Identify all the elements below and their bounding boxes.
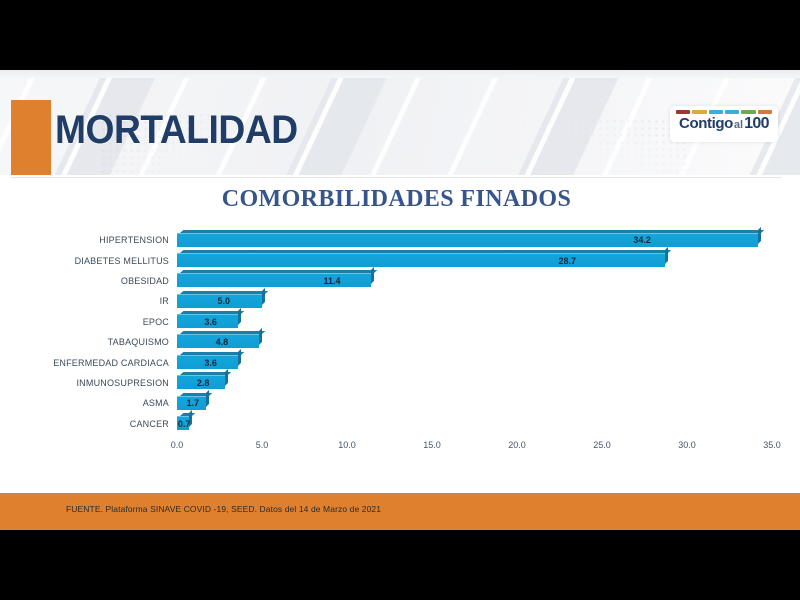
bar-row: ENFERMEDAD CARDIACA3.6 bbox=[11, 352, 782, 372]
bar-value-label: 3.6 bbox=[204, 358, 217, 368]
category-label: IR bbox=[160, 296, 169, 306]
slide-top-strip bbox=[0, 70, 800, 78]
logo-word-100: 100 bbox=[744, 116, 769, 132]
bar-track: 4.8 bbox=[177, 332, 772, 352]
bar-value-label: 0.7 bbox=[178, 419, 191, 429]
x-axis-tick-label: 5.0 bbox=[256, 440, 269, 450]
bar-track: 5.0 bbox=[177, 291, 772, 311]
bar-row: ASMA1.7 bbox=[11, 393, 782, 413]
bar-value-label: 3.6 bbox=[204, 317, 217, 327]
bar-value-label: 5.0 bbox=[217, 296, 230, 306]
category-label: ENFERMEDAD CARDIACA bbox=[53, 358, 169, 368]
bar-track: 3.6 bbox=[177, 312, 772, 332]
bar-row: TABAQUISMO4.8 bbox=[11, 332, 782, 352]
category-label: INMUNOSUPRESION bbox=[76, 378, 169, 388]
category-label: ASMA bbox=[143, 398, 169, 408]
x-axis: 0.05.010.015.020.025.030.035.0 bbox=[177, 440, 772, 458]
bar-value-label: 2.8 bbox=[197, 378, 210, 388]
logo-bar-6 bbox=[758, 110, 772, 114]
bar-row: INMUNOSUPRESION2.8 bbox=[11, 373, 782, 393]
x-axis-tick-label: 25.0 bbox=[593, 440, 611, 450]
bar-track: 2.8 bbox=[177, 373, 772, 393]
bar-row: IR5.0 bbox=[11, 291, 782, 311]
bar-value-label: 1.7 bbox=[187, 398, 200, 408]
logo-word-al: al bbox=[734, 120, 743, 131]
logo-word-contigo: Contigo bbox=[679, 116, 733, 131]
bar[interactable] bbox=[177, 233, 758, 247]
bar-value-label: 28.7 bbox=[559, 256, 577, 266]
screenshot-stage: MORTALIDAD Contigo al 100 COMOR bbox=[0, 0, 800, 600]
bar-track: 34.2 bbox=[177, 230, 772, 250]
header-dot-pattern-decoration-right bbox=[520, 118, 690, 175]
category-label: CANCER bbox=[130, 419, 169, 429]
category-label: OBESIDAD bbox=[121, 276, 169, 286]
bar-row: DIABETES MELLITUS28.7 bbox=[11, 250, 782, 270]
bar-track: 3.6 bbox=[177, 352, 772, 372]
x-axis-tick-label: 10.0 bbox=[338, 440, 356, 450]
footer-source-note: FUENTE. Plataforma SINAVE COVID -19, SEE… bbox=[66, 504, 381, 514]
bar-rows-container: HIPERTENSION34.2DIABETES MELLITUS28.7OBE… bbox=[11, 230, 782, 434]
bar-track: 1.7 bbox=[177, 393, 772, 413]
chart-card: COMORBILIDADES FINADOS HIPERTENSION34.2D… bbox=[11, 177, 782, 494]
x-axis-tick-label: 30.0 bbox=[678, 440, 696, 450]
x-axis-tick-label: 15.0 bbox=[423, 440, 441, 450]
logo-bar-3 bbox=[709, 110, 723, 114]
bar[interactable] bbox=[177, 273, 371, 287]
page-title: MORTALIDAD bbox=[55, 108, 298, 153]
logo-bar-1 bbox=[676, 110, 690, 114]
x-axis-tick-label: 20.0 bbox=[508, 440, 526, 450]
logo-color-bars bbox=[676, 110, 772, 114]
chart-plot-area: HIPERTENSION34.2DIABETES MELLITUS28.7OBE… bbox=[11, 230, 782, 462]
logo-bar-4 bbox=[725, 110, 739, 114]
logo-wordmark: Contigo al 100 bbox=[676, 116, 772, 132]
bar-value-label: 11.4 bbox=[324, 276, 341, 286]
contigo-al-100-logo: Contigo al 100 bbox=[670, 106, 778, 142]
category-label: DIABETES MELLITUS bbox=[75, 256, 169, 266]
bar-value-label: 4.8 bbox=[216, 337, 229, 347]
slide-header: MORTALIDAD Contigo al 100 bbox=[0, 78, 800, 175]
bar-row: CANCER0.7 bbox=[11, 414, 782, 434]
logo-bar-5 bbox=[741, 110, 755, 114]
x-axis-tick-label: 35.0 bbox=[763, 440, 781, 450]
bar-track: 11.4 bbox=[177, 271, 772, 291]
bar-row: EPOC3.6 bbox=[11, 312, 782, 332]
bar-value-label: 34.2 bbox=[633, 235, 651, 245]
category-label: EPOC bbox=[143, 317, 169, 327]
orange-accent-block bbox=[11, 100, 51, 175]
bar[interactable] bbox=[177, 253, 665, 267]
chart-title: COMORBILIDADES FINADOS bbox=[11, 186, 782, 213]
x-axis-tick-label: 0.0 bbox=[171, 440, 184, 450]
bar-track: 28.7 bbox=[177, 250, 772, 270]
logo-bar-2 bbox=[692, 110, 706, 114]
category-label: TABAQUISMO bbox=[108, 337, 169, 347]
bar-row: OBESIDAD11.4 bbox=[11, 271, 782, 291]
bar-track: 0.7 bbox=[177, 414, 772, 434]
presentation-slide: MORTALIDAD Contigo al 100 COMOR bbox=[0, 70, 800, 530]
slide-footer: FUENTE. Plataforma SINAVE COVID -19, SEE… bbox=[0, 493, 800, 530]
category-label: HIPERTENSION bbox=[99, 235, 169, 245]
